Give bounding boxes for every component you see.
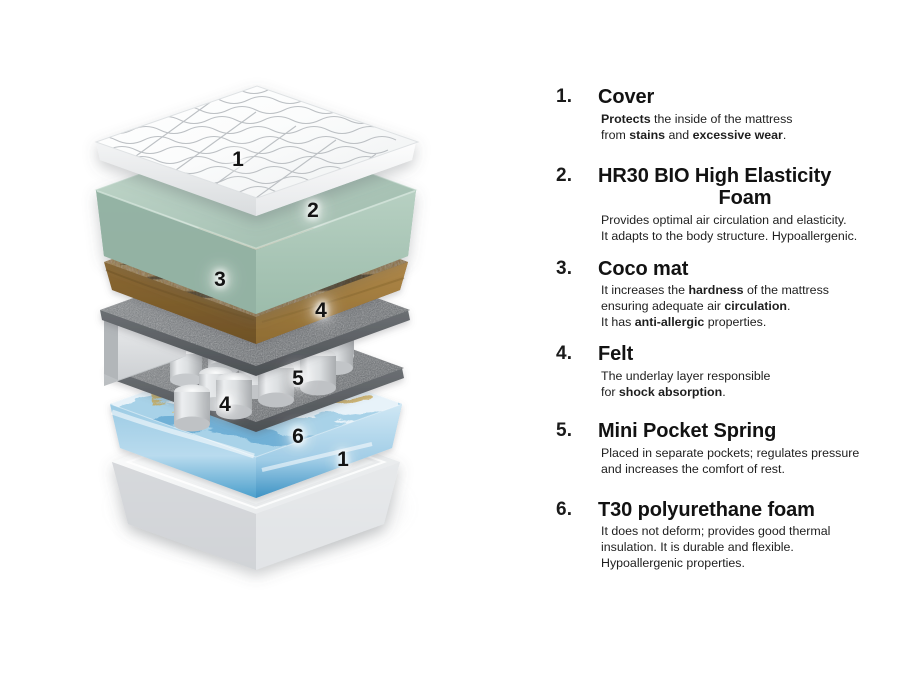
- legend-item-title: Coco mat: [598, 258, 892, 281]
- legend-item-title: Cover: [598, 86, 892, 109]
- legend-item-hr30-bio-foam: 2. HR30 BIO High ElasticityFoam Provides…: [556, 165, 892, 244]
- legend-item-description: Placed in separate pockets; regulates pr…: [601, 445, 892, 477]
- page-root: 1 2 3 4 5 4 6 1 1. Cover Protects the in…: [0, 0, 900, 675]
- legend-item-number: 1.: [556, 86, 572, 108]
- legend-item-description: It increases the hardness of the mattres…: [601, 282, 892, 330]
- mattress-exploded-diagram: 1 2 3 4 5 4 6 1: [0, 0, 520, 675]
- legend-item-t30-polyurethane-foam: 6. T30 polyurethane foam It does not def…: [556, 499, 892, 572]
- legend-item-title: T30 polyurethane foam: [598, 499, 892, 522]
- legend-item-title: HR30 BIO High ElasticityFoam: [598, 165, 892, 210]
- legend-item-coco-mat: 3. Coco mat It increases the hardness of…: [556, 258, 892, 331]
- legend-item-number: 4.: [556, 343, 572, 365]
- legend-item-description: The underlay layer responsiblefor shock …: [601, 368, 892, 400]
- legend-item-number: 6.: [556, 499, 572, 521]
- legend-item-title-line1: HR30 BIO High Elasticity: [598, 165, 831, 187]
- legend-item-description: Protects the inside of the mattressfrom …: [601, 111, 892, 143]
- legend-item-title: Mini Pocket Spring: [598, 420, 892, 443]
- legend-item-description: It does not deform; provides good therma…: [601, 523, 892, 571]
- legend-item-mini-pocket-spring: 5. Mini Pocket Spring Placed in separate…: [556, 420, 892, 477]
- legend-item-cover: 1. Cover Protects the inside of the matt…: [556, 86, 892, 143]
- legend-item-number: 5.: [556, 420, 572, 442]
- legend-item-description: Provides optimal air circulation and ela…: [601, 212, 892, 244]
- legend-item-title: Felt: [598, 343, 892, 366]
- legend-item-number: 3.: [556, 258, 572, 280]
- layer-legend-list: 1. Cover Protects the inside of the matt…: [556, 86, 892, 575]
- legend-item-number: 2.: [556, 165, 572, 187]
- mattress-layers-svg: [0, 0, 520, 675]
- legend-item-felt: 4. Felt The underlay layer responsiblefo…: [556, 343, 892, 400]
- legend-item-title-line2: Foam: [598, 187, 892, 210]
